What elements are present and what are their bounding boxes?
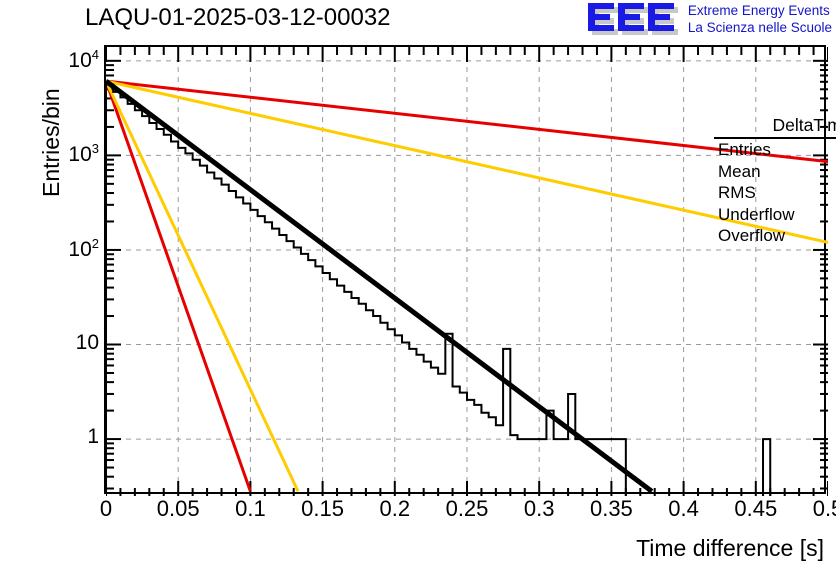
x-tick-label: 0.15 <box>301 498 344 520</box>
y-tick-mantissa: 10 <box>68 49 91 72</box>
stats-row-key: Mean <box>718 161 761 183</box>
eee-logo-line1: Extreme Energy Events <box>688 2 832 19</box>
x-axis-title: Time difference [s] <box>636 535 824 562</box>
stats-row-key: Entries <box>718 139 771 161</box>
y-tick-mantissa: 10 <box>76 331 99 354</box>
eee-logo: Extreme Energy Events La Scienza nelle S… <box>586 1 832 37</box>
x-tick-label: 0.5 <box>813 498 836 520</box>
eee-mark-icon <box>586 1 682 37</box>
y-tick-mantissa: 1 <box>87 425 99 448</box>
eee-letter-bar <box>588 3 595 31</box>
stats-row: Underflow1 <box>714 204 836 226</box>
x-tick-label: 0.35 <box>590 498 633 520</box>
x-tick-label: 0.1 <box>235 498 266 520</box>
stats-rows: Entries44931Mean0.03665RMS0.03652Underfl… <box>714 139 836 247</box>
y-tick-label: 104 <box>68 48 99 71</box>
stats-row: Entries44931 <box>714 139 836 161</box>
eee-letter-bar <box>648 3 655 31</box>
x-tick-label: 0.25 <box>446 498 489 520</box>
stats-row-key: RMS <box>718 182 756 204</box>
page-title: LAQU-01-2025-03-12-00032 <box>85 4 485 32</box>
y-tick-label: 1 <box>87 426 99 447</box>
y-tick-exponent: 3 <box>92 141 99 156</box>
eee-logo-line2: La Scienza nelle Scuole <box>688 19 832 36</box>
eee-letter-bar <box>618 3 625 31</box>
y-tick-mantissa: 10 <box>68 238 91 261</box>
x-tick-label: 0.2 <box>380 498 411 520</box>
stats-row-key: Underflow <box>718 204 795 226</box>
y-tick-mantissa: 10 <box>68 143 91 166</box>
y-tick-exponent: 4 <box>92 47 99 62</box>
stats-row: Overflow0 <box>714 225 836 247</box>
y-tick-label: 10 <box>76 332 99 353</box>
eee-logo-text: Extreme Energy Events La Scienza nelle S… <box>688 1 832 36</box>
x-tick-label: 0.45 <box>734 498 777 520</box>
x-tick-label: 0.4 <box>668 498 699 520</box>
x-tick-label: 0.05 <box>157 498 200 520</box>
y-tick-label: 102 <box>68 237 99 260</box>
stats-title: DeltaTime <box>714 115 836 139</box>
stats-row: RMS0.03652 <box>714 182 836 204</box>
plot-canvas: LAQU-01-2025-03-12-00032 Extreme Energy … <box>0 0 836 572</box>
y-tick-label: 103 <box>68 142 99 165</box>
histogram-outline <box>106 85 770 496</box>
x-tick-label: 0 <box>100 498 112 520</box>
stats-row-key: Overflow <box>718 225 785 247</box>
y-axis-title: Entries/bin <box>38 88 65 197</box>
y-tick-exponent: 2 <box>92 236 99 251</box>
stats-box: DeltaTime Entries44931Mean0.03665RMS0.03… <box>714 115 836 247</box>
plot-frame: Entries/bin Time difference [s] 10410310… <box>104 45 826 494</box>
x-tick-label: 0.3 <box>524 498 555 520</box>
model-yellow-steep <box>106 81 298 491</box>
stats-row: Mean0.03665 <box>714 161 836 183</box>
